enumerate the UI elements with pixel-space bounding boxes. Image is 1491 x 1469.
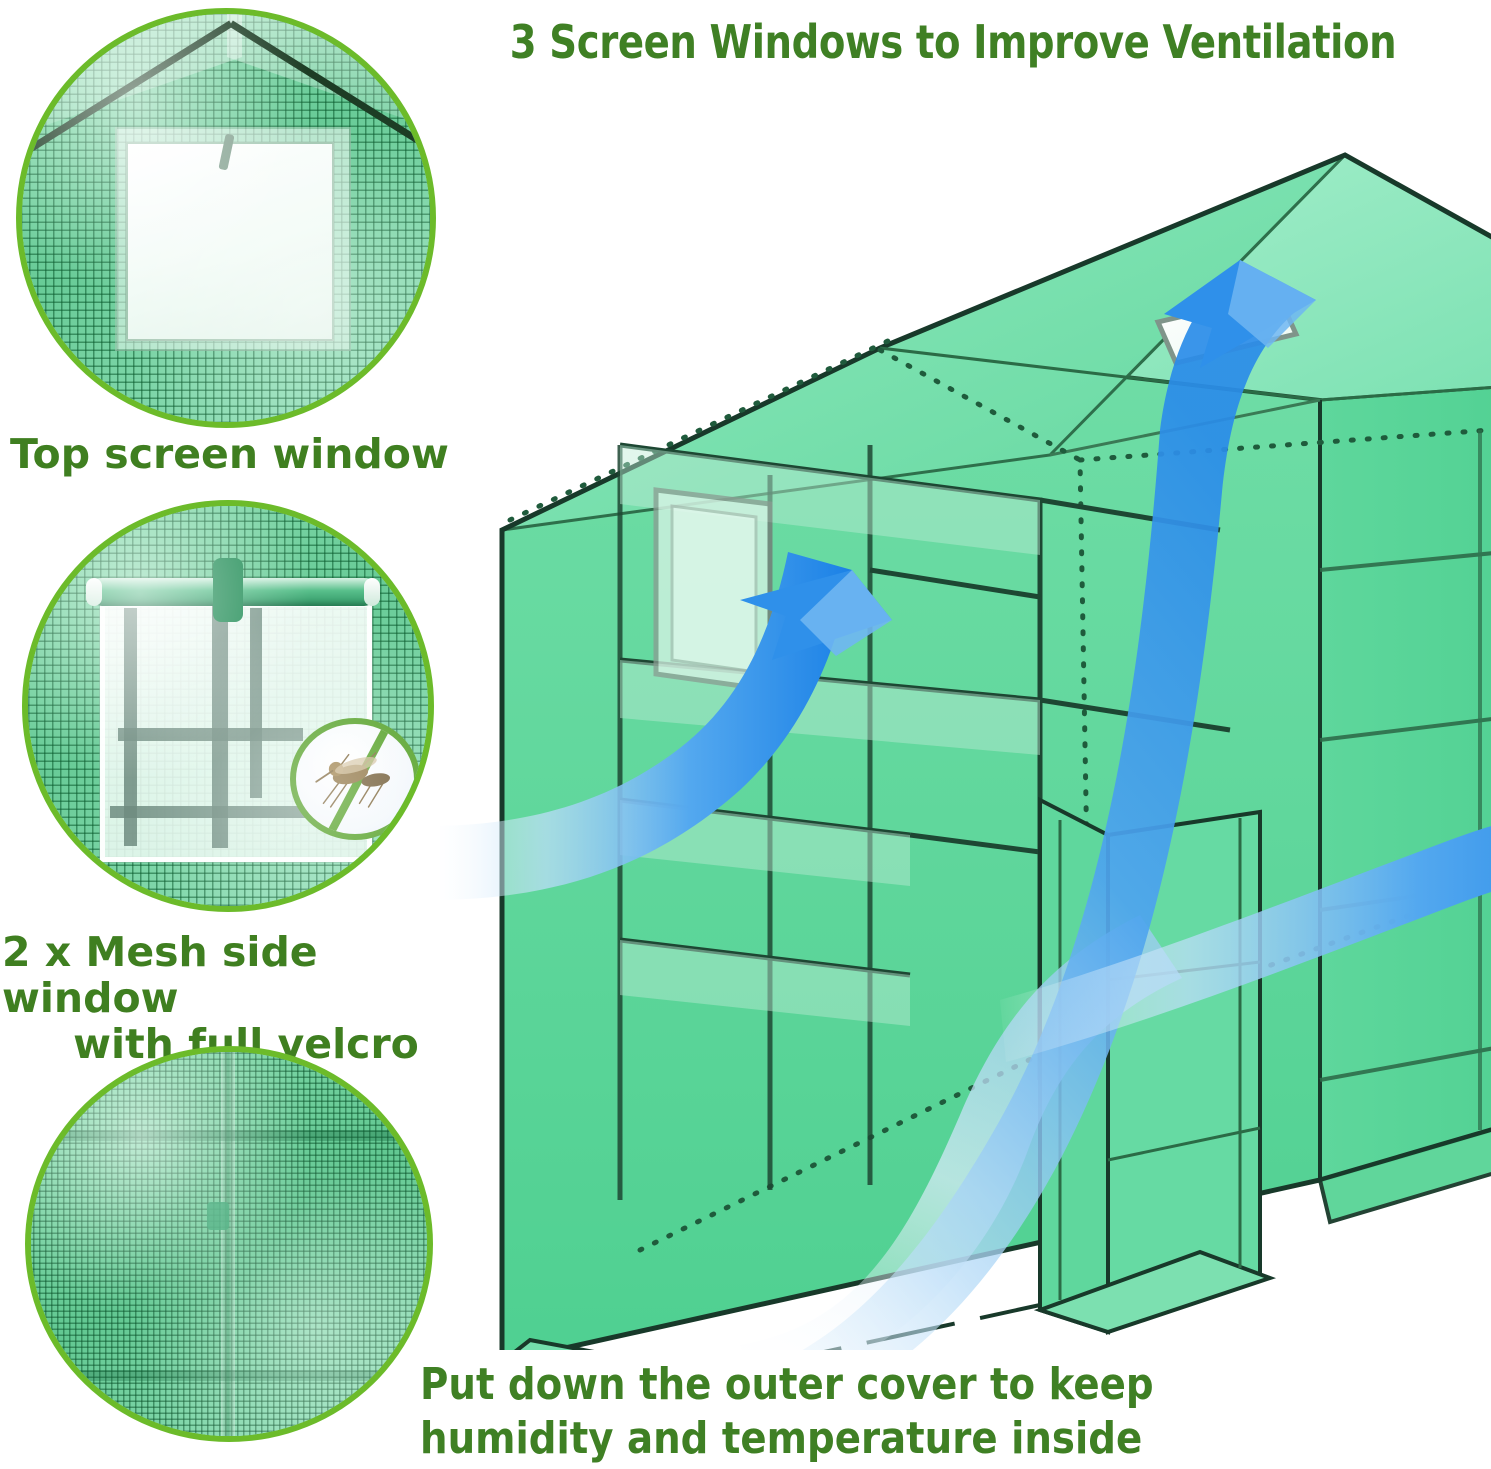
caption-outer-line-1: Put down the outer cover to keep bbox=[420, 1358, 1089, 1412]
cover-seam-horizontal-bottom bbox=[31, 1370, 427, 1381]
roll-cap-right bbox=[364, 578, 380, 606]
shelf-bar-upper bbox=[118, 728, 303, 741]
cover-seam-horizontal-top bbox=[31, 1130, 427, 1141]
mosquito-icon bbox=[296, 724, 414, 834]
caption-outer-line-2: humidity and temperature inside bbox=[420, 1412, 1089, 1466]
caption-outer-cover: Put down the outer cover to keep humidit… bbox=[420, 1358, 1089, 1466]
frame-post-right bbox=[250, 608, 262, 798]
top-screen-window-photo bbox=[16, 8, 436, 428]
no-mosquito-badge bbox=[290, 718, 420, 840]
velcro-tab-icon bbox=[207, 1202, 229, 1230]
caption-mesh-line-1: 2 x Mesh side window bbox=[2, 930, 492, 1022]
right-side-wall bbox=[1320, 370, 1491, 1180]
roll-cap-left bbox=[86, 578, 102, 606]
top-window-panel bbox=[126, 142, 334, 341]
outer-cover-photo bbox=[25, 1046, 433, 1442]
velcro-tie-strap bbox=[213, 558, 243, 622]
page-title: 3 Screen Windows to Improve Ventilation bbox=[504, 14, 1403, 70]
mesh-side-window-photo bbox=[22, 500, 434, 912]
caption-top-screen-window: Top screen window bbox=[10, 432, 470, 478]
greenhouse-ventilation-diagram bbox=[440, 100, 1491, 1350]
shelf-bar-lower bbox=[110, 806, 310, 818]
infographic-page: 3 Screen Windows to Improve Ventilation … bbox=[0, 0, 1491, 1469]
